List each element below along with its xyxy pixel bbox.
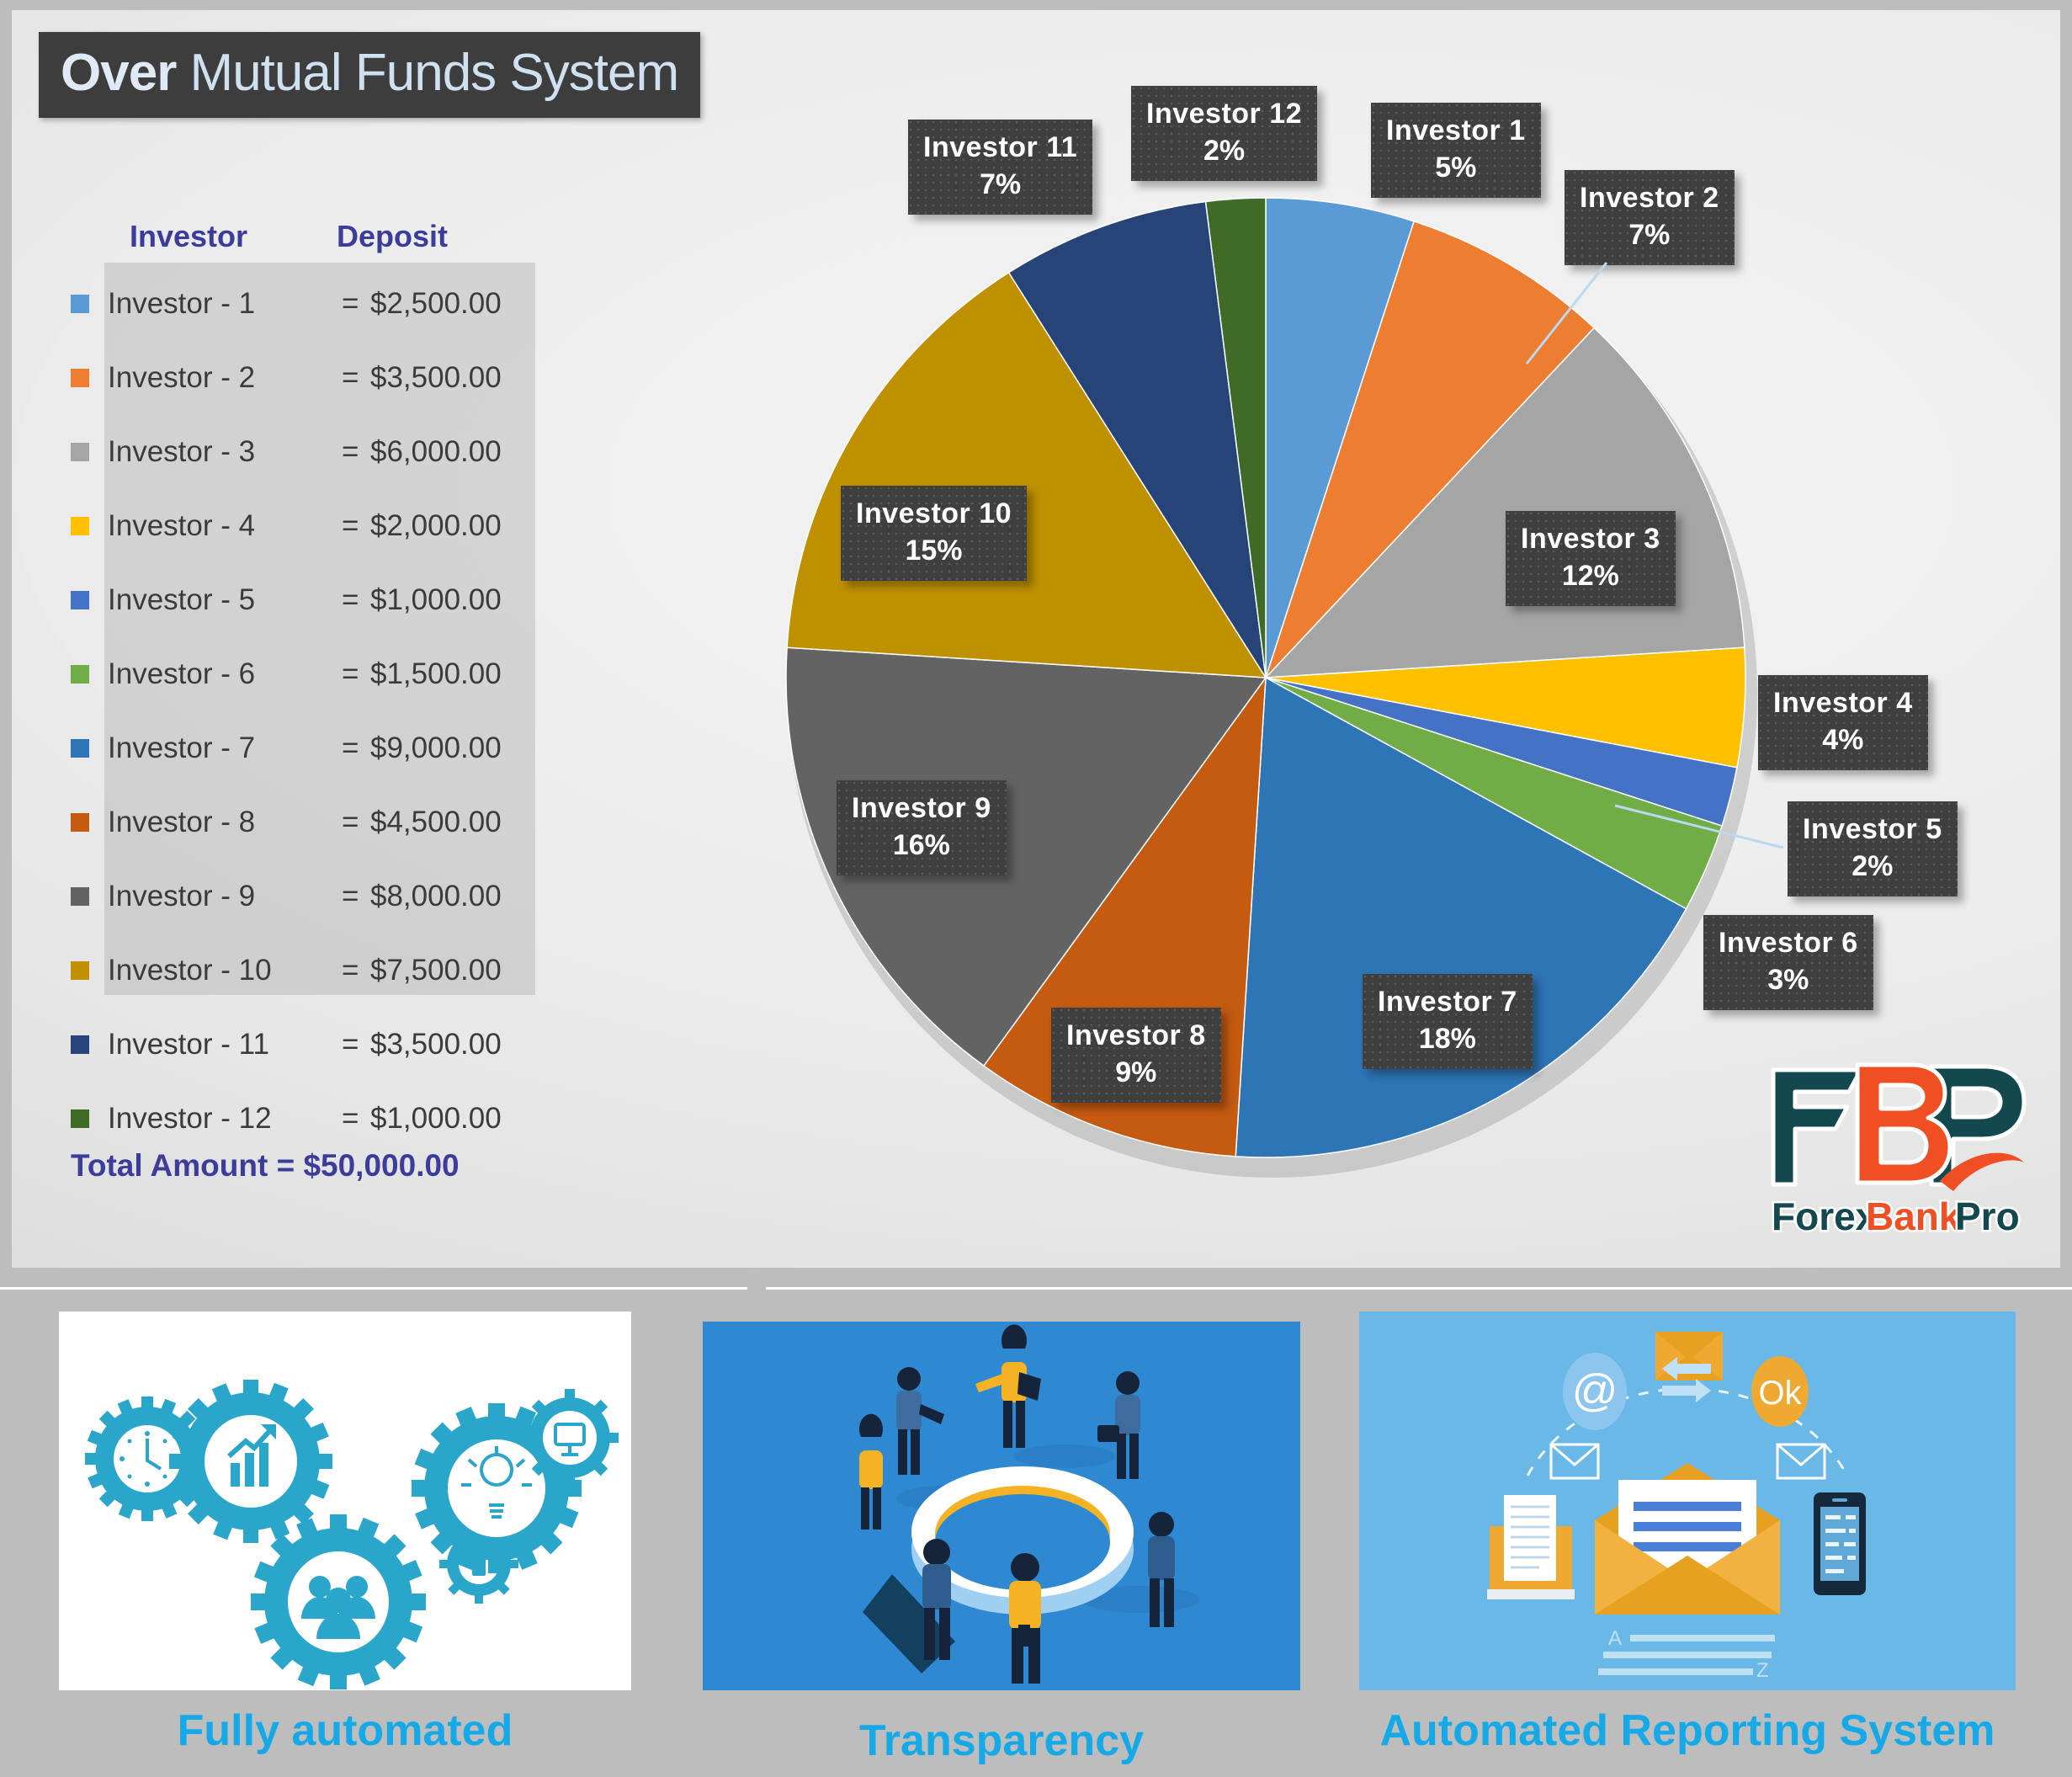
feature-caption-fully-automated: Fully automated [59,1705,631,1756]
legend-investor-name: Investor - 2 [108,361,342,395]
pie-label-name: Investor 3 [1521,521,1660,558]
legend-header: Investor Deposit [130,219,525,254]
legend-deposit-value: $3,500.00 [370,361,502,395]
logo-word-bank: Bank [1866,1194,1961,1238]
section-divider [0,1280,2072,1298]
legend-row: Investor - 11=$3,500.00 [71,1008,576,1082]
legend-color-swatch [71,739,89,758]
pie-label-name: Investor 6 [1719,925,1858,962]
pie-label-name: Investor 10 [856,496,1012,533]
legend-investor-name: Investor - 6 [108,657,342,691]
legend-row: Investor - 7=$9,000.00 [71,711,576,785]
legend-col-deposit: Deposit [337,219,448,254]
legend-row: Investor - 2=$3,500.00 [71,341,576,415]
feature-panel-transparency: Transparency [703,1322,1300,1690]
letter-z: Z [1756,1659,1769,1682]
legend-equals: = [342,287,370,321]
feature-caption-transparency: Transparency [703,1716,1300,1766]
legend-investor-name: Investor - 7 [108,732,342,765]
legend-equals: = [342,954,370,987]
feature-panel-fully-automated: Fully automated [59,1311,631,1690]
legend-investor-name: Investor - 1 [108,287,342,321]
legend-deposit-value: $6,000.00 [370,435,502,469]
legend-row: Investor - 9=$8,000.00 [71,859,576,934]
pie-label-percent: 3% [1719,962,1858,999]
gears-illustration [59,1311,631,1690]
pie-slice-label: Investor 27% [1565,170,1735,265]
pie-slice-label: Investor 89% [1051,1008,1221,1103]
legend-investor-name: Investor - 12 [108,1102,342,1136]
legend-deposit-value: $9,000.00 [370,732,502,765]
pie-label-name: Investor 7 [1378,984,1517,1021]
pie-slice-label: Investor 312% [1506,511,1676,606]
forex-bank-pro-logo: Forex Bank Pro [1767,1058,2027,1239]
letter-a: A [1608,1627,1622,1650]
pie-chart-svg [752,191,1788,1226]
pie-label-name: Investor 8 [1066,1018,1206,1055]
pie-label-name: Investor 4 [1773,685,1913,722]
legend-color-swatch [71,1109,89,1128]
ok-badge: Ok [1751,1356,1809,1427]
pie-slice-label: Investor 122% [1131,86,1317,181]
logo-word-forex: Forex [1772,1194,1878,1238]
legend-deposit-value: $1,000.00 [370,583,502,617]
pie-chart [752,191,1788,1226]
legend-equals: = [342,583,370,617]
pie-label-percent: 9% [1066,1055,1206,1092]
legend-row: Investor - 1=$2,500.00 [71,267,576,341]
legend-equals: = [342,732,370,765]
legend-color-swatch [71,1035,89,1054]
legend-deposit-value: $4,500.00 [370,806,502,839]
legend-deposit-value: $8,000.00 [370,880,502,913]
pie-label-percent: 12% [1521,558,1660,595]
legend-deposit-value: $1,500.00 [370,657,502,691]
at-badge: @ [1563,1353,1627,1430]
legend-row: Investor - 4=$2,000.00 [71,489,576,563]
legend-investor-name: Investor - 4 [108,509,342,543]
legend-equals: = [342,361,370,395]
legend-color-swatch [71,369,89,387]
legend-equals: = [342,1028,370,1061]
legend-row: Investor - 8=$4,500.00 [71,785,576,859]
pie-label-name: Investor 1 [1386,113,1526,150]
pie-label-name: Investor 5 [1803,811,1942,849]
legend-color-swatch [71,295,89,313]
total-amount: Total Amount = $50,000.00 [71,1148,460,1184]
pie-slice-label: Investor 916% [837,780,1007,875]
page-title: Over Mutual Funds System [39,32,700,118]
legend-row: Investor - 3=$6,000.00 [71,415,576,489]
pie-label-percent: 16% [852,827,991,865]
logo-word-pro: Pro [1955,1194,2020,1238]
pie-label-percent: 5% [1386,150,1526,187]
at-symbol: @ [1572,1365,1618,1416]
legend-investor-name: Investor - 9 [108,880,342,913]
pie-label-percent: 18% [1378,1021,1517,1058]
legend-investor-name: Investor - 8 [108,806,342,839]
legend-deposit-value: $3,500.00 [370,1028,502,1061]
legend-equals: = [342,806,370,839]
pie-label-name: Investor 11 [923,130,1077,167]
pie-slice-label: Investor 718% [1363,974,1533,1069]
legend-row: Investor - 5=$1,000.00 [71,563,576,637]
features-section: Fully automated [0,1298,2072,1777]
legend-equals: = [342,880,370,913]
pie-slice-label: Investor 1015% [841,486,1027,581]
pie-label-name: Investor 2 [1580,180,1719,217]
feature-panel-automated-reporting: @ Ok [1359,1311,2016,1690]
legend-investor-name: Investor - 5 [108,583,342,617]
legend-list: Investor - 1=$2,500.00Investor - 2=$3,50… [71,267,576,1156]
legend-equals: = [342,509,370,543]
legend-color-swatch [71,813,89,832]
pie-slice-label: Investor 15% [1371,103,1541,198]
legend-investor-name: Investor - 10 [108,954,342,987]
magnifier-people-illustration [703,1322,1300,1690]
legend-equals: = [342,435,370,469]
pie-label-name: Investor 12 [1146,96,1302,133]
legend-col-investor: Investor [130,219,337,254]
legend-investor-name: Investor - 11 [108,1028,342,1061]
legend-equals: = [342,657,370,691]
legend-deposit-value: $2,000.00 [370,509,502,543]
ok-label: Ok [1758,1375,1802,1412]
legend-deposit-value: $7,500.00 [370,954,502,987]
legend-color-swatch [71,961,89,980]
pie-label-percent: 15% [856,533,1012,570]
legend-investor-name: Investor - 3 [108,435,342,469]
pie-slice-label: Investor 52% [1788,801,1958,896]
legend-row: Investor - 12=$1,000.00 [71,1082,576,1156]
legend-deposit-value: $2,500.00 [370,287,502,321]
chart-section: Over Mutual Funds System Investor Deposi… [0,0,2072,1280]
pie-label-percent: 7% [923,167,1077,204]
legend-color-swatch [71,443,89,461]
pie-label-percent: 7% [1580,217,1719,254]
feature-caption-automated-reporting: Automated Reporting System [1359,1705,2016,1756]
slide: Over Mutual Funds System Investor Deposi… [0,0,2072,1777]
legend-deposit-value: $1,000.00 [370,1102,502,1136]
legend-row: Investor - 10=$7,500.00 [71,934,576,1008]
title-bold: Over [61,44,176,102]
legend-equals: = [342,1102,370,1136]
legend-color-swatch [71,591,89,609]
pie-slice-label: Investor 63% [1703,915,1873,1010]
pie-label-name: Investor 9 [852,790,991,827]
legend-row: Investor - 6=$1,500.00 [71,637,576,711]
pie-label-percent: 2% [1146,133,1302,170]
legend-color-swatch [71,887,89,906]
title-rest: Mutual Funds System [176,44,678,102]
chart-section-inner: Over Mutual Funds System Investor Deposi… [12,10,2060,1268]
email-reporting-illustration: @ Ok [1359,1311,2016,1690]
pie-label-percent: 4% [1773,722,1913,759]
pie-label-percent: 2% [1803,849,1942,886]
legend-color-swatch [71,665,89,684]
pie-slice-label: Investor 117% [908,120,1092,215]
pie-slice-label: Investor 44% [1758,675,1928,770]
legend-color-swatch [71,517,89,535]
